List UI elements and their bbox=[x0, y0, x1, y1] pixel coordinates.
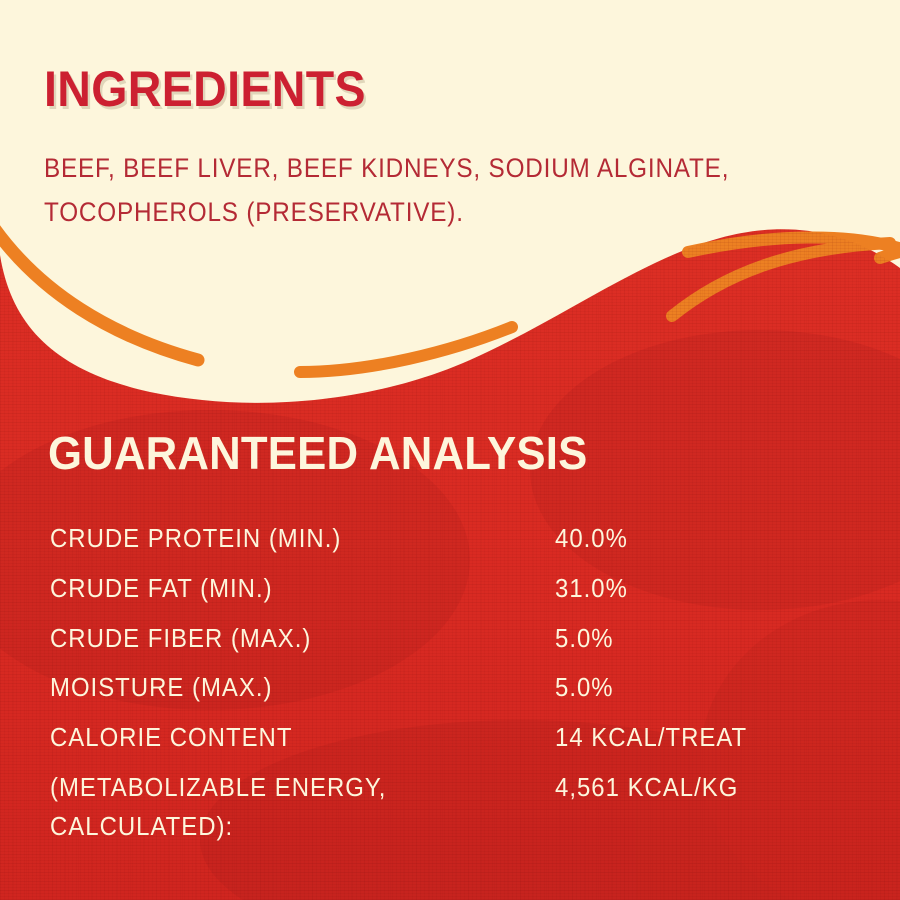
guaranteed-analysis-section: GUARANTEED ANALYSIS CRUDE PROTEIN (MIN.)… bbox=[48, 392, 868, 859]
analysis-row: CRUDE FIBER (MAX.) 5.0% bbox=[50, 622, 868, 655]
analysis-label: (METABOLIZABLE ENERGY, bbox=[50, 771, 515, 804]
ingredients-heading: INGREDIENTS bbox=[44, 64, 788, 114]
ingredients-section: INGREDIENTS BEEF, BEEF LIVER, BEEF KIDNE… bbox=[44, 30, 844, 261]
analysis-row: MOISTURE (MAX.) 5.0% bbox=[50, 671, 868, 704]
analysis-row: CRUDE FAT (MIN.) 31.0% bbox=[50, 572, 868, 605]
analysis-label: MOISTURE (MAX.) bbox=[50, 671, 515, 704]
guaranteed-analysis-table: CRUDE PROTEIN (MIN.) 40.0% CRUDE FAT (MI… bbox=[50, 522, 868, 842]
analysis-value: 14 KCAL/TREAT bbox=[555, 721, 859, 754]
analysis-value: 5.0% bbox=[555, 622, 859, 655]
analysis-label: CRUDE FAT (MIN.) bbox=[50, 572, 515, 605]
ingredients-list-text: BEEF, BEEF LIVER, BEEF KIDNEYS, SODIUM A… bbox=[44, 147, 782, 234]
analysis-label: CALORIE CONTENT bbox=[50, 721, 515, 754]
analysis-row: CRUDE PROTEIN (MIN.) 40.0% bbox=[50, 522, 868, 555]
analysis-value: 5.0% bbox=[555, 671, 859, 704]
guaranteed-analysis-heading: GUARANTEED ANALYSIS bbox=[48, 430, 827, 476]
analysis-label: CRUDE PROTEIN (MIN.) bbox=[50, 522, 515, 555]
analysis-value: 40.0% bbox=[555, 522, 859, 555]
analysis-row: (METABOLIZABLE ENERGY, 4,561 KCAL/KG bbox=[50, 771, 868, 804]
analysis-label: CALCULATED): bbox=[50, 810, 515, 843]
analysis-row: CALORIE CONTENT 14 KCAL/TREAT bbox=[50, 721, 868, 754]
analysis-label: CRUDE FIBER (MAX.) bbox=[50, 622, 515, 655]
analysis-row: CALCULATED): bbox=[50, 810, 868, 843]
analysis-value: 4,561 KCAL/KG bbox=[555, 771, 859, 804]
analysis-value: 31.0% bbox=[555, 572, 859, 605]
label-panel: INGREDIENTS BEEF, BEEF LIVER, BEEF KIDNE… bbox=[0, 0, 900, 900]
